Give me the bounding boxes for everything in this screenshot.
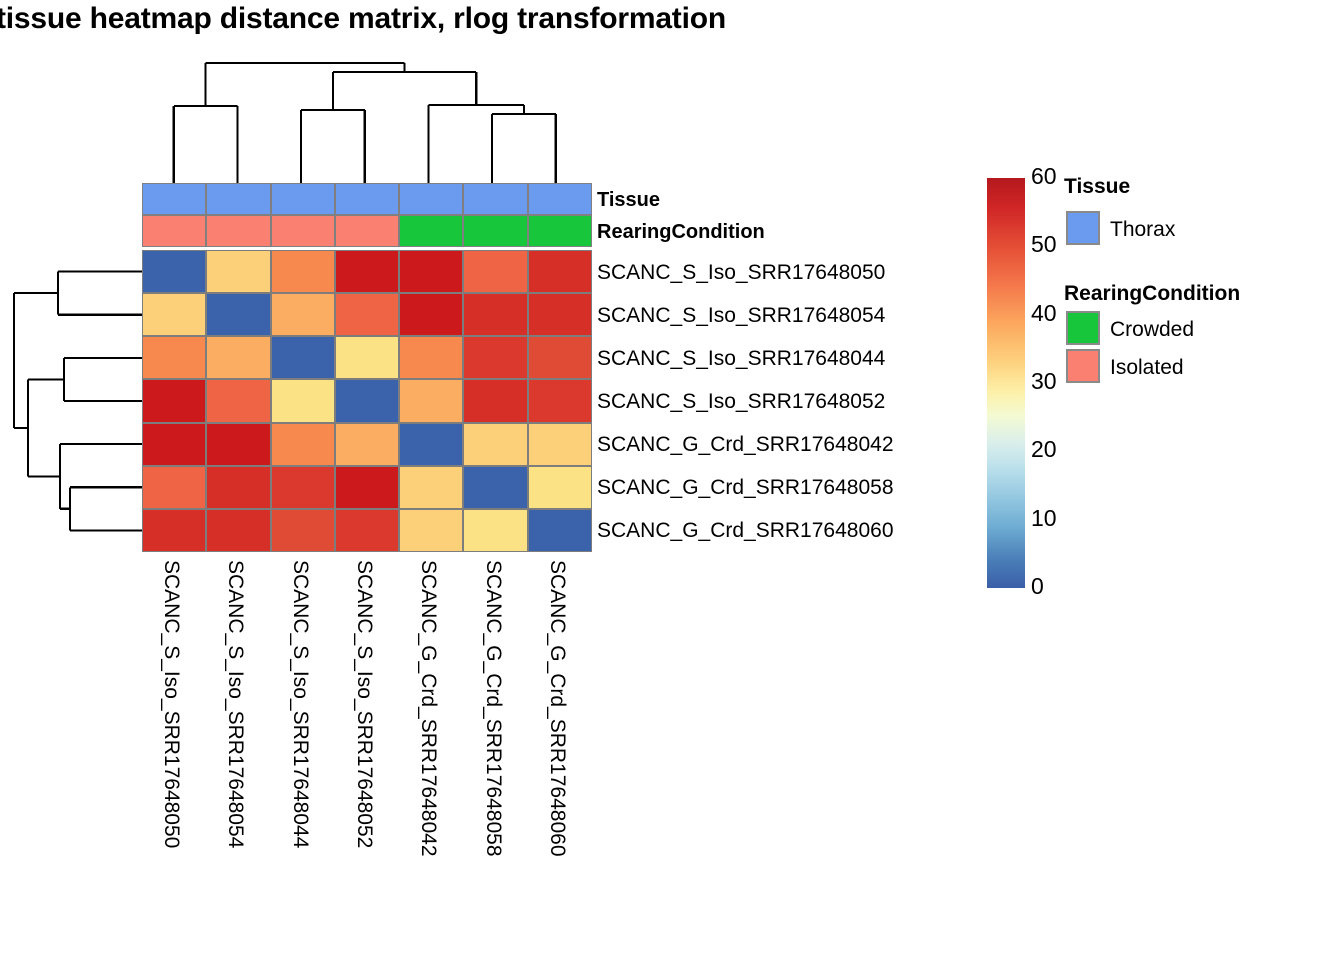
heatmap-cell: [528, 379, 592, 422]
heatmap-cell: [399, 250, 463, 293]
heatmap-cell: [206, 466, 270, 509]
heatmap-cell: [399, 509, 463, 552]
annotation-label-tissue: Tissue: [597, 190, 660, 210]
column-label: SCANC_G_Crd_SRR17648058: [483, 560, 504, 857]
colorbar-tick-label: 50: [1031, 233, 1057, 256]
heatmap-cell: [528, 250, 592, 293]
legend-swatch-isolated: [1066, 349, 1100, 383]
figure-canvas: tissue heatmap distance matrix, rlog tra…: [0, 0, 1344, 960]
heatmap-cell: [271, 379, 335, 422]
heatmap-cell: [271, 336, 335, 379]
heatmap-cell: [463, 293, 527, 336]
heatmap-cell: [335, 466, 399, 509]
annotation-cell: [399, 215, 463, 247]
heatmap-cell: [206, 336, 270, 379]
column-label: SCANC_S_Iso_SRR17648044: [290, 560, 311, 848]
heatmap-cell: [335, 509, 399, 552]
row-label: SCANC_G_Crd_SRR17648060: [597, 520, 894, 541]
colorbar-tick-label: 20: [1031, 438, 1057, 461]
heatmap-cell: [271, 293, 335, 336]
colorbar-tick-label: 10: [1031, 507, 1057, 530]
heatmap-cell: [528, 423, 592, 466]
annotation-cell: [528, 215, 592, 247]
colorbar-tick-label: 0: [1031, 575, 1044, 598]
annotation-cell: [142, 215, 206, 247]
heatmap-cell: [528, 336, 592, 379]
heatmap-cell: [206, 250, 270, 293]
heatmap-cell: [271, 423, 335, 466]
heatmap-cell: [142, 379, 206, 422]
row-label: SCANC_S_Iso_SRR17648050: [597, 262, 885, 283]
legend-title-rearingcondition: RearingCondition: [1064, 283, 1240, 304]
heatmap-cell: [335, 250, 399, 293]
row-label: SCANC_S_Iso_SRR17648044: [597, 348, 885, 369]
heatmap-cell: [463, 336, 527, 379]
annotation-cell: [463, 215, 527, 247]
heatmap-cell: [463, 250, 527, 293]
legend-label-thorax: Thorax: [1110, 219, 1175, 240]
annotation-cell: [335, 183, 399, 215]
colorbar-tick-label: 30: [1031, 370, 1057, 393]
heatmap-cell: [142, 250, 206, 293]
heatmap-cell: [463, 423, 527, 466]
heatmap-cell: [206, 509, 270, 552]
colorbar-tick-label: 40: [1031, 302, 1057, 325]
heatmap-cell: [528, 293, 592, 336]
heatmap-cell: [206, 293, 270, 336]
row-label: SCANC_S_Iso_SRR17648054: [597, 305, 885, 326]
annotation-label-rearingcondition: RearingCondition: [597, 222, 765, 242]
heatmap-cell: [399, 423, 463, 466]
heatmap-matrix: [142, 250, 592, 552]
annotation-cell: [142, 183, 206, 215]
annotation-row-rearingcondition: [142, 215, 592, 247]
annotation-cell: [528, 183, 592, 215]
heatmap-cell: [463, 509, 527, 552]
annotation-cell: [271, 183, 335, 215]
annotation-cell: [399, 183, 463, 215]
column-label: SCANC_G_Crd_SRR17648042: [418, 560, 439, 857]
heatmap-cell: [335, 379, 399, 422]
colorbar-tick-label: 60: [1031, 165, 1057, 188]
row-label: SCANC_G_Crd_SRR17648042: [597, 434, 894, 455]
heatmap-cell: [399, 466, 463, 509]
heatmap-cell: [335, 336, 399, 379]
heatmap-cell: [335, 423, 399, 466]
annotation-cell: [206, 183, 270, 215]
row-dendrogram: [6, 250, 142, 552]
annotation-row-tissue: [142, 183, 592, 215]
annotation-cell: [335, 215, 399, 247]
heatmap-cell: [142, 293, 206, 336]
heatmap-cell: [399, 336, 463, 379]
heatmap-cell: [142, 466, 206, 509]
heatmap-cell: [142, 423, 206, 466]
heatmap-cell: [271, 466, 335, 509]
heatmap-cell: [335, 293, 399, 336]
column-label: SCANC_S_Iso_SRR17648052: [354, 560, 375, 848]
heatmap-cell: [463, 466, 527, 509]
row-label: SCANC_G_Crd_SRR17648058: [597, 477, 894, 498]
colorbar: [987, 178, 1025, 588]
legend-title-tissue: Tissue: [1064, 176, 1130, 197]
legend-label-isolated: Isolated: [1110, 357, 1184, 378]
heatmap-cell: [271, 250, 335, 293]
page-title: tissue heatmap distance matrix, rlog tra…: [0, 2, 726, 36]
column-label: SCANC_S_Iso_SRR17648054: [225, 560, 246, 848]
heatmap-cell: [206, 423, 270, 466]
heatmap-cell: [206, 379, 270, 422]
column-dendrogram: [142, 48, 592, 183]
heatmap-cell: [528, 466, 592, 509]
annotation-cell: [206, 215, 270, 247]
heatmap-cell: [528, 509, 592, 552]
legend-swatch-crowded: [1066, 311, 1100, 345]
heatmap-cell: [399, 379, 463, 422]
column-label: SCANC_S_Iso_SRR17648050: [161, 560, 182, 848]
heatmap-cell: [142, 336, 206, 379]
annotation-cell: [271, 215, 335, 247]
legend-label-crowded: Crowded: [1110, 319, 1194, 340]
heatmap-cell: [399, 293, 463, 336]
column-label: SCANC_G_Crd_SRR17648060: [547, 560, 568, 857]
row-label: SCANC_S_Iso_SRR17648052: [597, 391, 885, 412]
legend-swatch-thorax: [1066, 211, 1100, 245]
annotation-cell: [463, 183, 527, 215]
heatmap-cell: [142, 509, 206, 552]
heatmap-cell: [463, 379, 527, 422]
heatmap-cell: [271, 509, 335, 552]
